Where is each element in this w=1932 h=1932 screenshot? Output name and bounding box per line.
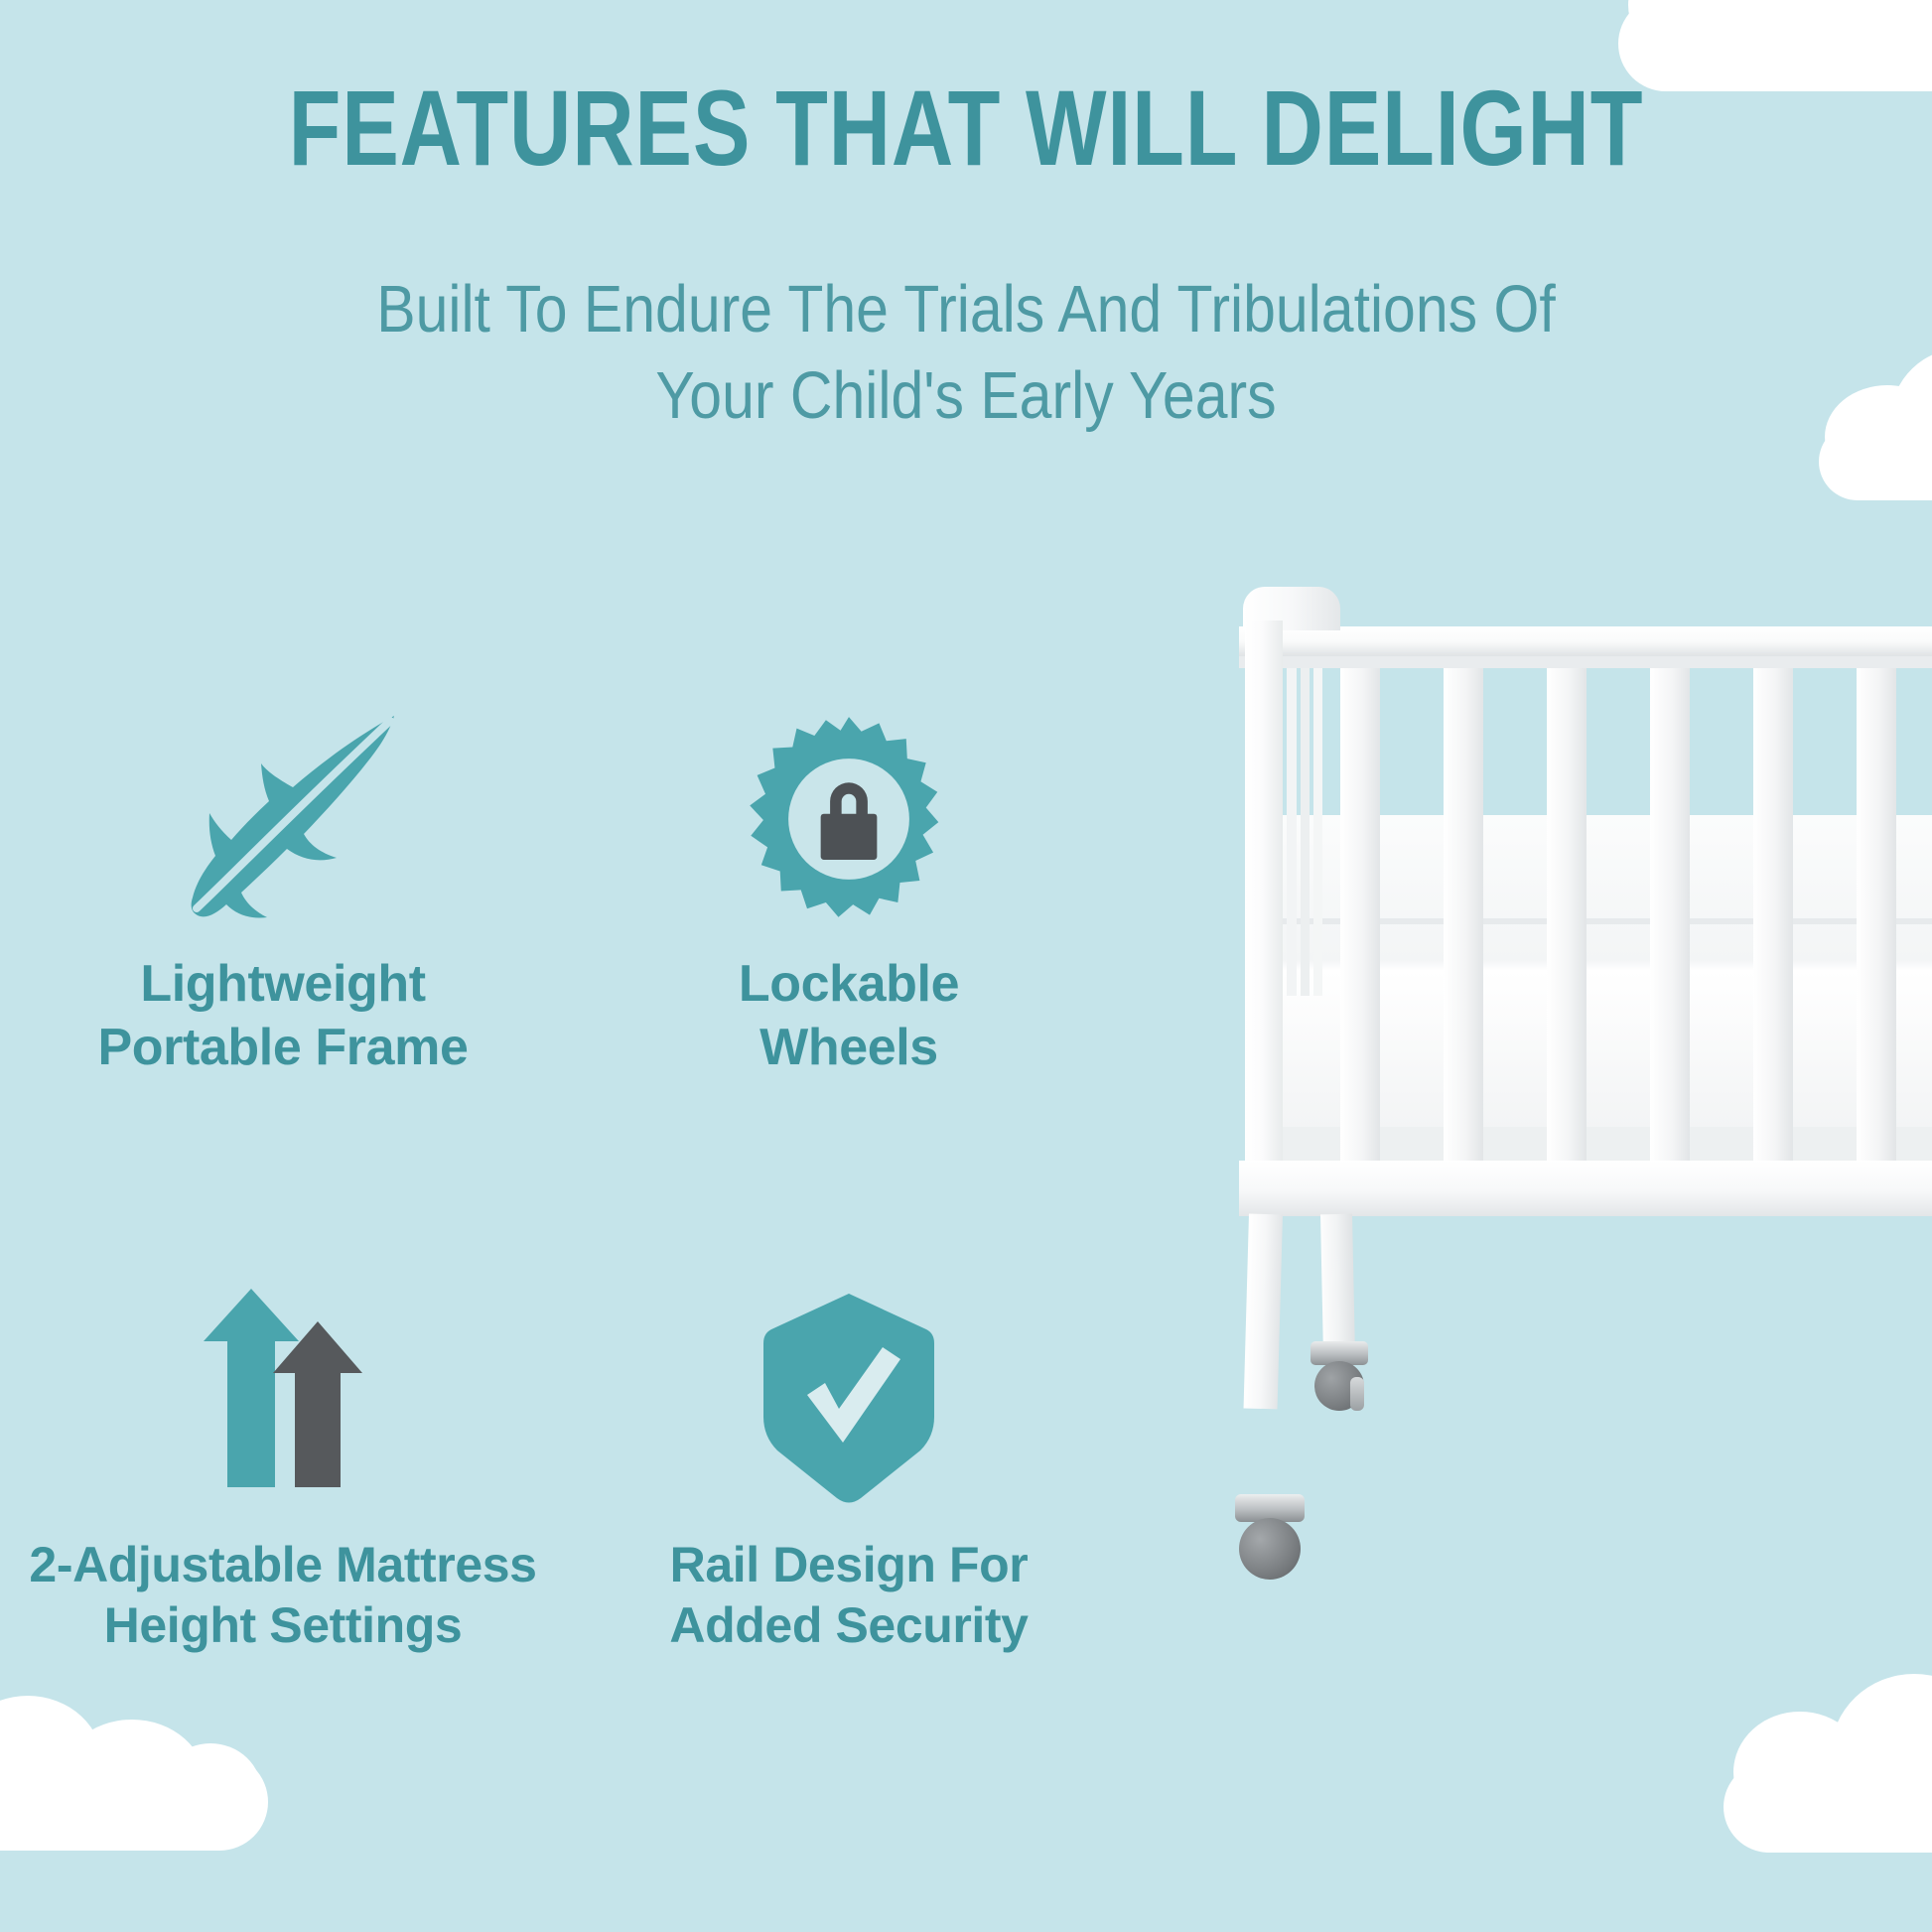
feature-label-line-1: Rail Design For	[669, 1535, 1028, 1596]
feature-row-2: 2-Adjustable Mattress Height Settings Ra…	[0, 1257, 1132, 1657]
arrow-gray	[273, 1321, 362, 1487]
crib-leg-back	[1320, 1214, 1355, 1350]
product-photo-crib	[1221, 571, 1932, 1837]
page-subtitle-line-1: Built To Endure The Trials And Tribulati…	[116, 266, 1816, 352]
dual-up-arrows-icon	[204, 1289, 362, 1505]
crib-slat	[1857, 668, 1896, 1196]
feature-label-line-1: Lightweight	[98, 953, 469, 1017]
crib-caster-front	[1227, 1494, 1314, 1623]
feather-icon	[164, 710, 402, 923]
feature-label-line-2: Height Settings	[29, 1595, 536, 1657]
page-subtitle-line-2: Your Child's Early Years	[116, 352, 1816, 439]
crib-back-post-1	[1287, 668, 1297, 996]
feature-item-lockable-wheels: Lockable Wheels	[566, 675, 1132, 1080]
feature-label: Lightweight Portable Frame	[98, 953, 469, 1080]
feature-label-line-2: Added Security	[669, 1595, 1028, 1657]
page-title: FEATURES THAT WILL DELIGHT	[194, 71, 1739, 184]
feature-item-lightweight-portable-frame: Lightweight Portable Frame	[0, 675, 566, 1080]
crib-back-post-2	[1301, 668, 1310, 996]
crib-bottom-rail	[1239, 1161, 1932, 1216]
crib-slat	[1444, 668, 1483, 1196]
page-subtitle: Built To Endure The Trials And Tribulati…	[116, 266, 1816, 439]
feature-grid: Lightweight Portable Frame	[0, 675, 1132, 1657]
crib-leg-front	[1244, 1214, 1283, 1410]
feature-icon-slot	[204, 1257, 362, 1505]
shield-check-icon	[759, 1292, 938, 1505]
cloud-right-middle	[1825, 347, 1932, 496]
cloud-top-right	[1628, 0, 1932, 81]
feature-row-1: Lightweight Portable Frame	[0, 675, 1132, 1080]
arrow-teal	[204, 1289, 299, 1487]
feature-icon-slot	[745, 675, 953, 923]
crib-top-rail-underside	[1239, 656, 1932, 668]
feature-item-adjustable-mattress-height: 2-Adjustable Mattress Height Settings	[0, 1257, 566, 1657]
infographic-canvas: FEATURES THAT WILL DELIGHT Built To Endu…	[0, 0, 1932, 1932]
cloud-bottom-left	[0, 1682, 264, 1880]
crib-corner-post	[1245, 621, 1283, 1196]
feature-label-line-1: Lockable	[739, 953, 959, 1017]
feature-icon-slot	[759, 1257, 938, 1505]
crib-slat	[1340, 668, 1380, 1196]
feature-label-line-2: Portable Frame	[98, 1017, 469, 1080]
crib-caster-back	[1305, 1341, 1376, 1445]
feature-label: Lockable Wheels	[739, 953, 959, 1080]
feature-icon-slot	[164, 675, 402, 923]
feature-label-line-1: 2-Adjustable Mattress	[29, 1535, 536, 1596]
crib-top-rail	[1239, 626, 1932, 656]
crib-slat	[1650, 668, 1690, 1196]
gear-lock-icon	[745, 715, 953, 923]
feature-label: Rail Design For Added Security	[669, 1535, 1028, 1657]
feature-label: 2-Adjustable Mattress Height Settings	[29, 1535, 536, 1657]
feature-item-rail-design-security: Rail Design For Added Security	[566, 1257, 1132, 1657]
crib-back-post-3	[1313, 668, 1322, 996]
feature-label-line-2: Wheels	[739, 1017, 959, 1080]
crib-slat	[1547, 668, 1587, 1196]
crib-slat	[1753, 668, 1793, 1196]
